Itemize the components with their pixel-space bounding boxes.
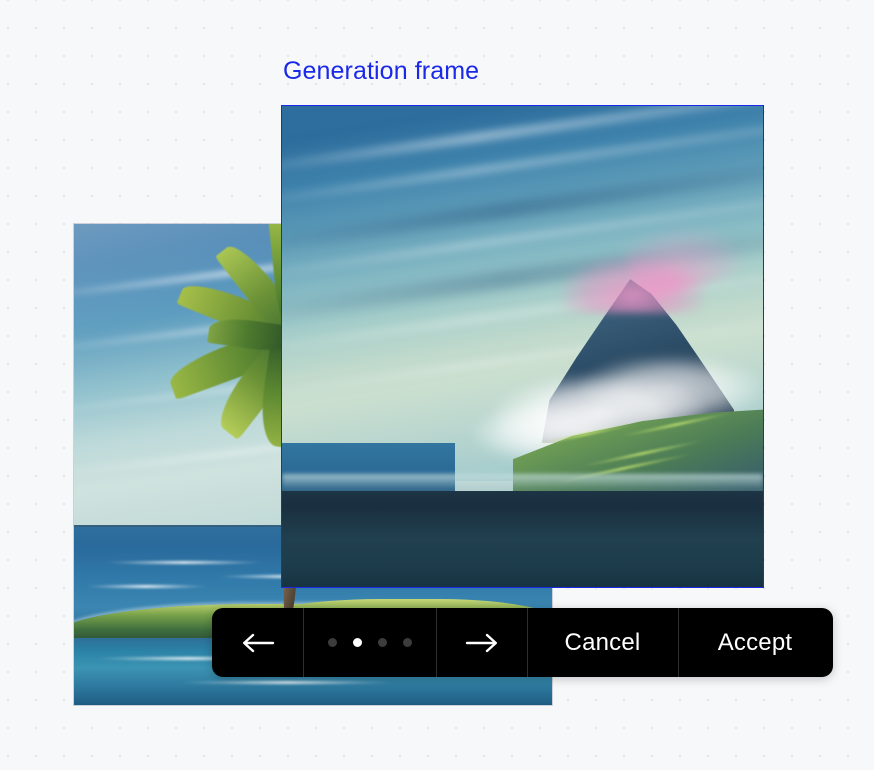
pagination-dot[interactable] [378,638,387,647]
pagination-dots [328,638,412,647]
editor-canvas[interactable]: Generation frame [0,0,874,770]
pagination-dot-active[interactable] [353,638,362,647]
sea-foam [84,585,208,588]
previous-variation-button[interactable] [212,608,303,677]
pagination-dot[interactable] [403,638,412,647]
arrow-right-icon [465,631,499,655]
variation-pagination[interactable] [303,608,436,677]
cancel-label: Cancel [565,629,641,657]
generated-dark-water [282,491,763,587]
peak-pink-haze [561,255,705,313]
lagoon-foam [179,681,394,684]
generated-artwork [282,106,763,587]
cancel-button[interactable]: Cancel [527,608,678,677]
next-variation-button[interactable] [436,608,527,677]
generation-toolbar[interactable]: Cancel Accept [212,608,833,677]
generation-frame-label: Generation frame [283,56,479,86]
generation-frame[interactable] [282,106,763,587]
sea-foam [103,561,266,564]
accept-button[interactable]: Accept [678,608,832,677]
pagination-dot[interactable] [328,638,337,647]
arrow-left-icon [241,631,275,655]
accept-label: Accept [718,629,793,657]
